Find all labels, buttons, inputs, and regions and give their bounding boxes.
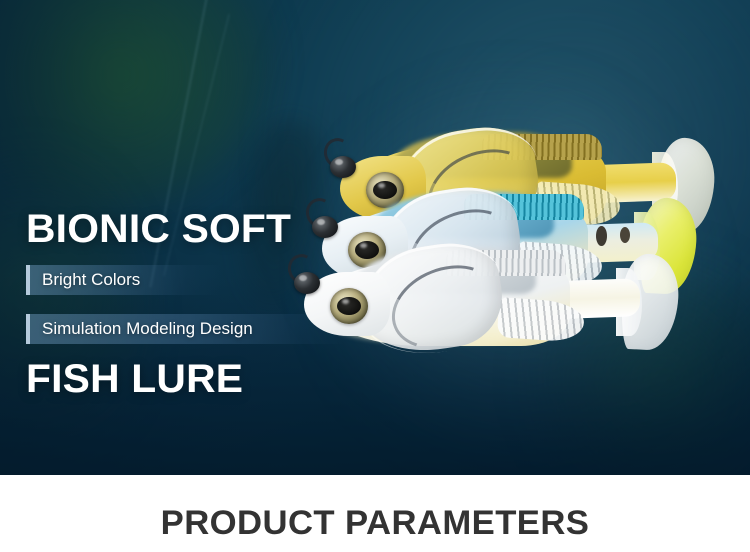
page-title-line-2: FISH LURE: [26, 354, 291, 404]
lure-eye-pupil: [337, 297, 361, 315]
lure-eye-bead-highlight: [317, 219, 325, 225]
lure-eye-bead: [330, 156, 356, 178]
feature-item-bright-colors: Bright Colors: [26, 265, 140, 295]
hero-banner: BIONIC SOFT FISH LURE Bright Colors Simu…: [0, 0, 750, 475]
product-parameters-section: PRODUCT PARAMETERS: [0, 475, 750, 552]
lure-eye-bead-highlight: [299, 275, 307, 281]
lure-eye-bead-highlight: [335, 159, 343, 165]
product-parameters-heading: PRODUCT PARAMETERS: [0, 505, 750, 541]
product-banner-page: BIONIC SOFT FISH LURE Bright Colors Simu…: [0, 0, 750, 552]
lure-eye-highlight: [342, 299, 349, 304]
feature-label: Simulation Modeling Design: [30, 314, 253, 344]
lure-pearl-white: [286, 238, 686, 378]
page-title-line-1: BIONIC SOFT: [26, 204, 291, 254]
lure-eye-bead: [294, 272, 320, 294]
product-image-soft-fish-lures: [330, 126, 750, 376]
feature-label: Bright Colors: [30, 265, 140, 295]
feature-item-simulation-modeling-design: Simulation Modeling Design: [26, 314, 253, 344]
lure-eye-bead: [312, 216, 338, 238]
